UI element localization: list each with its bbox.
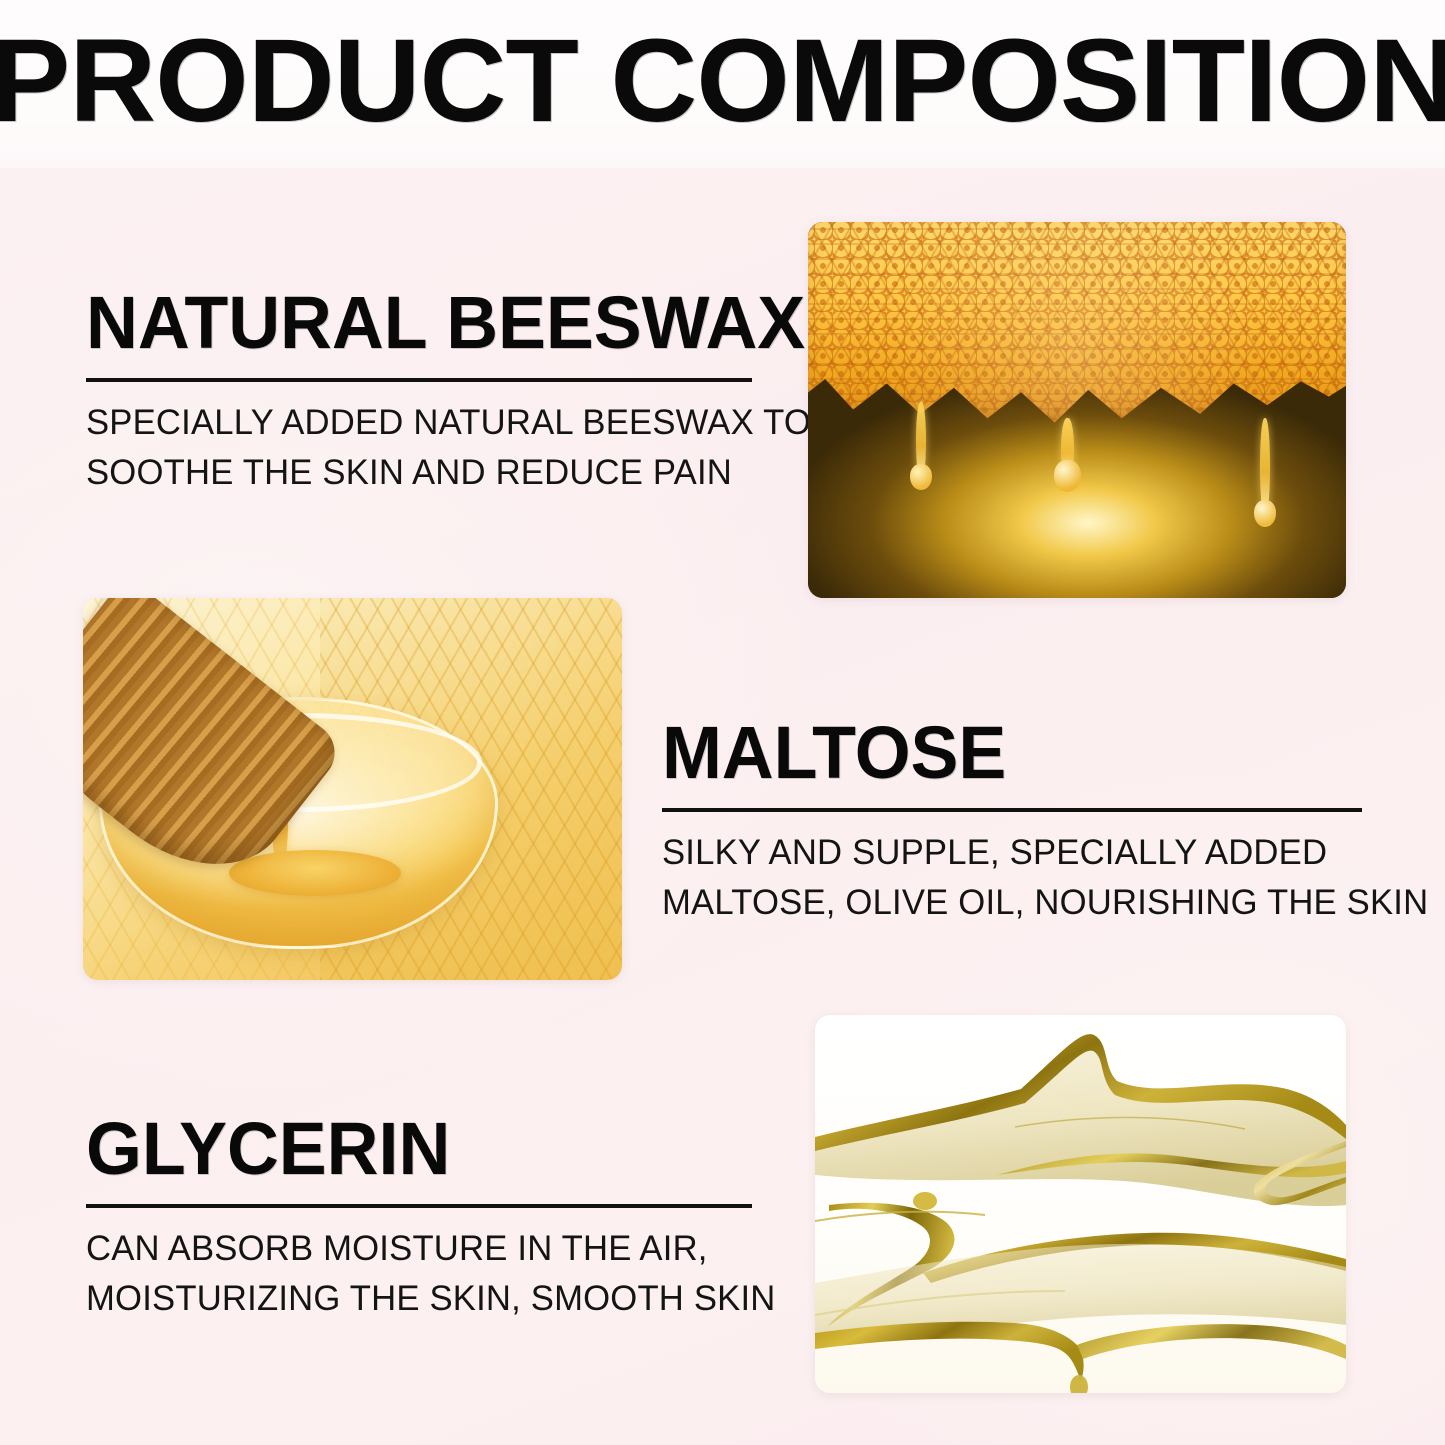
golden-oil-swirls-image	[815, 1015, 1346, 1393]
section-maltose-body-line-1: SILKY AND SUPPLE, SPECIALLY ADDED	[662, 828, 1355, 878]
section-beeswax-body-line-2: SOOTHE THE SKIN AND REDUCE PAIN	[86, 448, 745, 498]
section-glycerin-divider	[86, 1204, 752, 1208]
section-glycerin-body: CAN ABSORB MOISTURE IN THE AIR, MOISTURI…	[86, 1224, 745, 1323]
section-glycerin-body-line-1: CAN ABSORB MOISTURE IN THE AIR,	[86, 1224, 745, 1274]
honeycomb-dripping-honey-image	[808, 222, 1346, 598]
honey-dipper-in-glass-bowl-image	[83, 598, 622, 980]
honey-pool	[229, 850, 401, 896]
section-maltose: MALTOSE SILKY AND SUPPLE, SPECIALLY ADDE…	[662, 716, 1362, 927]
section-maltose-divider	[662, 808, 1362, 812]
oil-swirl-graphic	[815, 1015, 1346, 1393]
section-maltose-heading: MALTOSE	[662, 716, 1341, 790]
page-title: PRODUCT COMPOSITION	[0, 22, 1445, 140]
section-glycerin: GLYCERIN CAN ABSORB MOISTURE IN THE AIR,…	[86, 1112, 752, 1323]
section-beeswax-heading: NATURAL BEESWAX	[86, 286, 732, 360]
section-glycerin-heading: GLYCERIN	[86, 1112, 732, 1186]
section-maltose-body: SILKY AND SUPPLE, SPECIALLY ADDED MALTOS…	[662, 828, 1355, 927]
section-beeswax-body: SPECIALLY ADDED NATURAL BEESWAX TO SOOTH…	[86, 398, 745, 497]
honey-drip-left	[916, 402, 926, 482]
section-beeswax: NATURAL BEESWAX SPECIALLY ADDED NATURAL …	[86, 286, 752, 497]
section-glycerin-body-line-2: MOISTURIZING THE SKIN, SMOOTH SKIN	[86, 1274, 745, 1324]
section-beeswax-body-line-1: SPECIALLY ADDED NATURAL BEESWAX TO	[86, 398, 745, 448]
section-beeswax-divider	[86, 378, 752, 382]
honey-drip-right	[1260, 418, 1270, 518]
section-maltose-body-line-2: MALTOSE, OLIVE OIL, NOURISHING THE SKIN	[662, 878, 1355, 928]
header-band-edge	[0, 166, 1445, 169]
honey-drip-center	[1061, 418, 1074, 482]
